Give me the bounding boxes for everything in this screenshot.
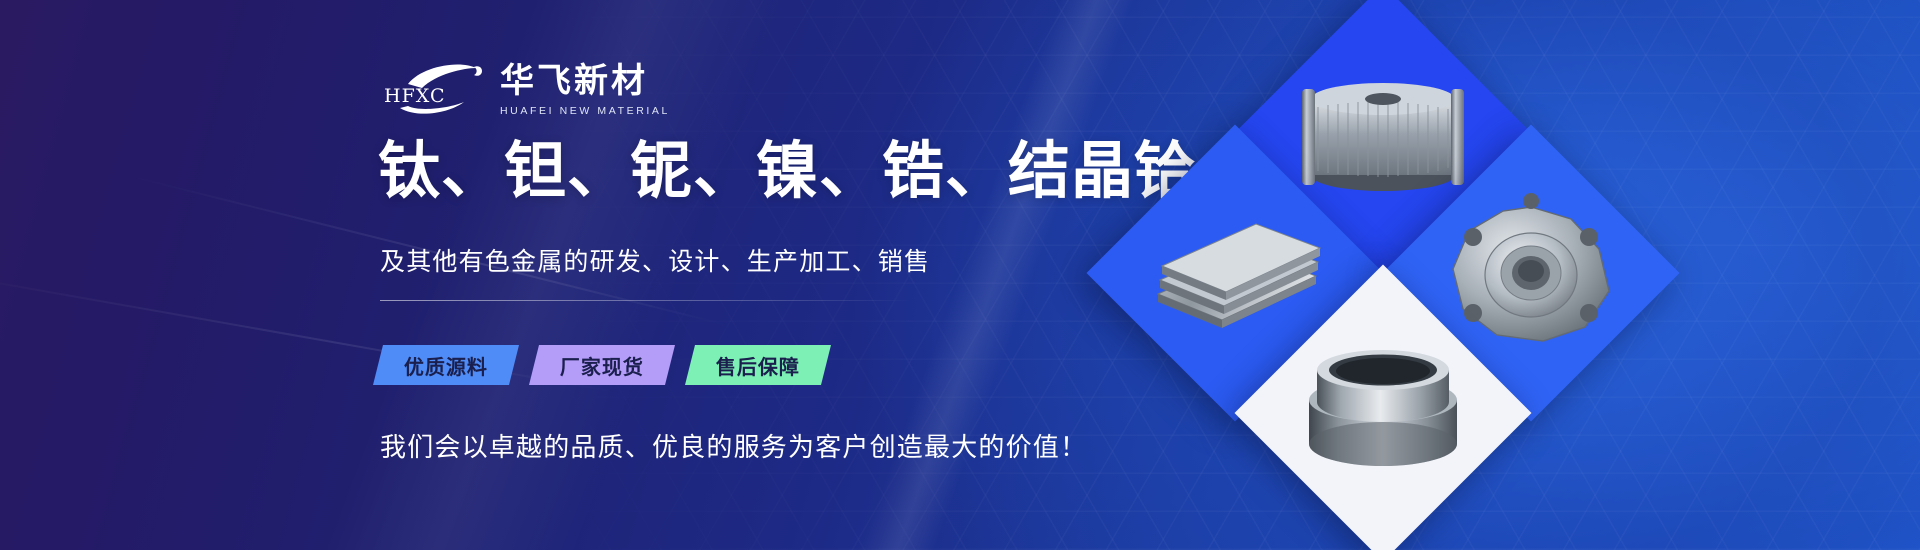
badge-quality-source[interactable]: 优质源料 bbox=[373, 345, 519, 385]
badge-label: 售后保障 bbox=[716, 351, 800, 380]
product-gallery bbox=[1060, 0, 1590, 550]
brand-wordmark: 华飞新材 HUAFEI NEW MATERIAL bbox=[500, 61, 670, 116]
badge-after-sales[interactable]: 售后保障 bbox=[685, 345, 831, 385]
subheadline: 及其他有色金属的研发、设计、生产加工、销售 bbox=[380, 242, 930, 278]
swoosh-logo-icon: HFXC bbox=[378, 58, 486, 120]
tagline: 我们会以卓越的品质、优良的服务为客户创造最大的价值！ bbox=[380, 427, 1087, 464]
badge-label: 优质源料 bbox=[404, 351, 488, 380]
hero-banner: HFXC 华飞新材 HUAFEI NEW MATERIAL 钛、钽、铌、镍、锆、… bbox=[0, 0, 1920, 550]
brand-logo[interactable]: HFXC 华飞新材 HUAFEI NEW MATERIAL bbox=[378, 58, 670, 120]
badge-label: 厂家现货 bbox=[560, 351, 644, 380]
svg-text:HFXC: HFXC bbox=[384, 85, 445, 107]
divider bbox=[380, 300, 910, 301]
feature-badges: 优质源料 厂家现货 售后保障 bbox=[378, 345, 826, 385]
brand-name-en: HUAFEI NEW MATERIAL bbox=[500, 105, 670, 117]
badge-factory-stock[interactable]: 厂家现货 bbox=[529, 345, 675, 385]
brand-name-cn: 华飞新材 bbox=[500, 63, 670, 99]
